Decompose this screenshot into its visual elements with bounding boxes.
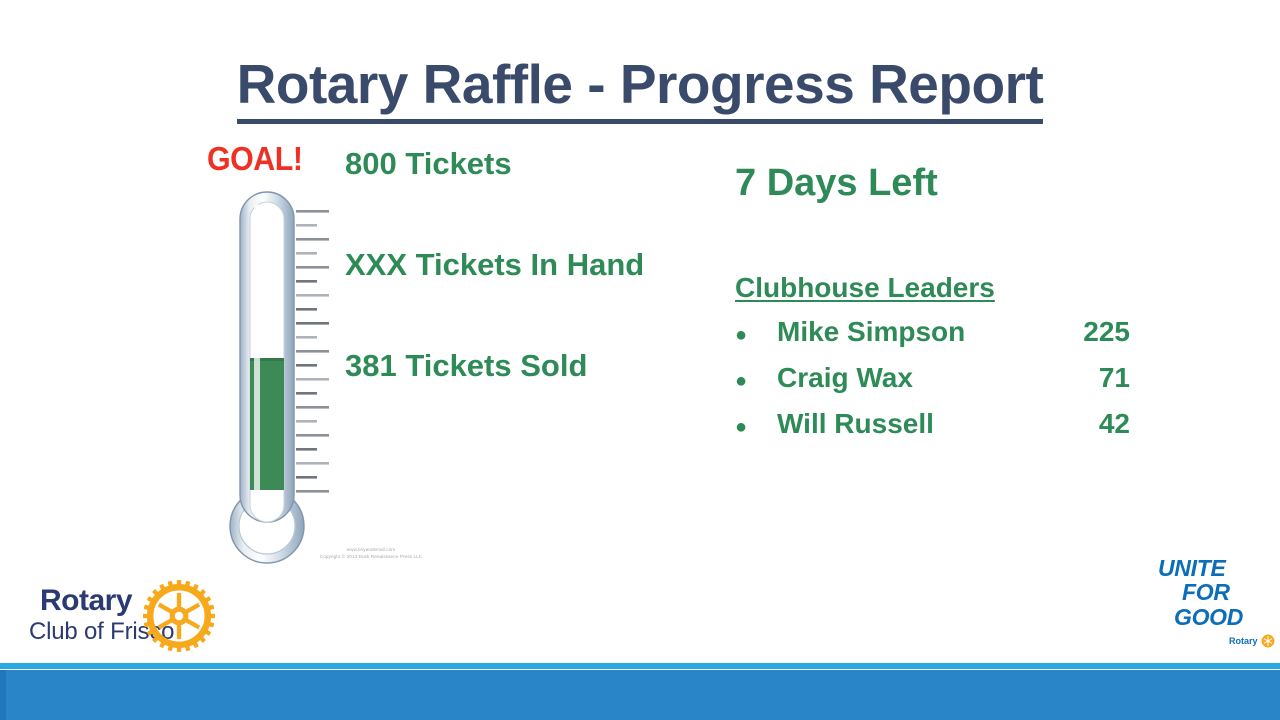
unite-rotary-row: Rotary (1229, 634, 1275, 648)
slide-canvas: Rotary Raffle - Progress Report GOAL! (0, 0, 1280, 720)
thermometer-credit-line-1: www.tinyandsmall.com (296, 547, 446, 554)
clubhouse-leaders-list: ● Mike Simpson 225 ● Craig Wax 71 ● Will… (735, 316, 1130, 454)
list-item: ● Craig Wax 71 (735, 362, 1130, 408)
leader-name: Will Russell (777, 408, 1068, 440)
bottom-accent-stripe (0, 663, 1280, 669)
unite-rotary-text: Rotary (1229, 636, 1258, 646)
page-title: Rotary Raffle - Progress Report (237, 56, 1044, 124)
leader-name: Craig Wax (777, 362, 1068, 394)
thermometer-credit: www.tinyandsmall.com Copyright © 2013 Du… (296, 547, 446, 561)
bottom-footer-bar-edge (0, 670, 6, 720)
unite-for-good-logo: UNITE FOR GOOD Rotary (1152, 556, 1280, 652)
thermometer-credit-line-2: Copyright © 2013 Dusk Renaissance Press … (296, 554, 446, 561)
bullet-icon: ● (735, 371, 777, 391)
thermometer-highlight (254, 204, 260, 504)
stat-tickets-in-hand: XXX Tickets In Hand (345, 247, 644, 283)
bottom-footer-bar (0, 670, 1280, 720)
leader-count: 225 (1068, 316, 1130, 348)
days-left-callout: 7 Days Left (735, 162, 938, 205)
thermometer-svg (222, 186, 342, 576)
title-block: Rotary Raffle - Progress Report (0, 56, 1280, 124)
unite-line-1: UNITE (1158, 556, 1280, 580)
rotary-club-logo: Rotary Club of Frisco (30, 582, 230, 654)
clubhouse-leaders-heading: Clubhouse Leaders (735, 272, 995, 304)
unite-line-2: FOR (1182, 580, 1280, 604)
thermometer-graphic (222, 186, 342, 576)
rotary-wordmark: Rotary (40, 584, 132, 618)
rotary-wheel-icon (143, 580, 215, 652)
thermometer-ticks (296, 210, 329, 493)
stat-tickets-sold: 381 Tickets Sold (345, 348, 587, 384)
unite-line-3: GOOD (1174, 605, 1280, 629)
bullet-icon: ● (735, 417, 777, 437)
list-item: ● Will Russell 42 (735, 408, 1130, 454)
leader-count: 42 (1068, 408, 1130, 440)
rotary-wheel-small-icon (1261, 634, 1275, 648)
leader-count: 71 (1068, 362, 1130, 394)
leader-name: Mike Simpson (777, 316, 1068, 348)
bullet-icon: ● (735, 325, 777, 345)
list-item: ● Mike Simpson 225 (735, 316, 1130, 362)
stat-goal-tickets: 800 Tickets (345, 146, 512, 182)
goal-badge: GOAL! (207, 140, 303, 178)
